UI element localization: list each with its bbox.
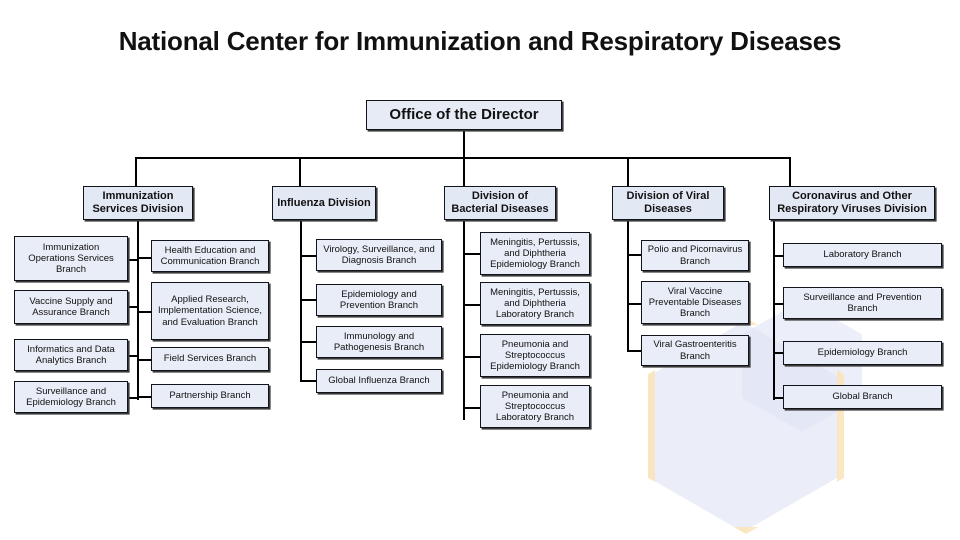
branch-label: Immunology and Pathogenesis Branch (321, 331, 437, 353)
connector-spine-division-3 (463, 220, 465, 420)
branch-label: Virology, Surveillance, and Diagnosis Br… (321, 244, 437, 266)
connector-stub-5-2 (773, 303, 783, 305)
branch-label: Partnership Branch (169, 390, 250, 401)
connector-drop-division-3 (463, 157, 465, 186)
branch-label: Pneumonia and Streptococcus Epidemiology… (485, 339, 585, 373)
node-label: Office of the Director (389, 106, 538, 124)
division-title-line1: Division of Viral (627, 190, 710, 202)
node-partnership-branch[interactable]: Partnership Branch (151, 384, 269, 408)
connector-spine-division-1 (137, 220, 139, 400)
division-title-line1: Division of (472, 190, 528, 202)
connector-stub-2-4 (300, 380, 316, 382)
branch-label: Surveillance and Prevention Branch (788, 292, 937, 314)
node-division-of-bacterial-diseases[interactable]: Division of Bacterial Diseases (444, 186, 556, 220)
branch-label: Epidemiology Branch (818, 347, 908, 358)
connector-stub-2-3 (300, 341, 316, 343)
division-title-line2: Diseases (644, 203, 692, 215)
branch-label: Polio and Picornavirus Branch (646, 244, 744, 266)
division-title: Immunization Services Division (92, 190, 183, 216)
division-title: Division of Bacterial Diseases (451, 190, 548, 216)
node-epidemiology-and-prevention-branch[interactable]: Epidemiology and Prevention Branch (316, 284, 442, 316)
branch-label: Epidemiology and Prevention Branch (321, 289, 437, 311)
connector-drop-division-2 (299, 157, 301, 186)
division-title-line1: Immunization (103, 190, 174, 202)
node-viral-vaccine-preventable-diseases-branch[interactable]: Viral Vaccine Preventable Diseases Branc… (641, 281, 749, 324)
branch-label: Field Services Branch (164, 353, 256, 364)
connector-stub-1-left-3 (128, 355, 139, 357)
node-vaccine-supply-and-assurance-branch[interactable]: Vaccine Supply and Assurance Branch (14, 290, 128, 324)
node-global-branch[interactable]: Global Branch (783, 385, 942, 409)
branch-label: Meningitis, Pertussis, and Diphtheria Ep… (485, 237, 585, 271)
connector-spine-division-5 (773, 220, 775, 400)
division-title-line2: Services Division (92, 203, 183, 215)
node-epidemiology-branch[interactable]: Epidemiology Branch (783, 341, 942, 365)
node-coronavirus-and-other-respiratory-viruses-division[interactable]: Coronavirus and Other Respiratory Viruse… (769, 186, 935, 220)
connector-stub-3-1 (463, 253, 480, 255)
connector-stub-3-2 (463, 304, 480, 306)
node-pneumonia-and-streptococcus-epidemiology-branch[interactable]: Pneumonia and Streptococcus Epidemiology… (480, 334, 590, 377)
node-division-of-viral-diseases[interactable]: Division of Viral Diseases (612, 186, 724, 220)
branch-label: Surveillance and Epidemiology Branch (19, 386, 123, 408)
node-surveillance-and-epidemiology-branch[interactable]: Surveillance and Epidemiology Branch (14, 381, 128, 413)
connector-stub-3-4 (463, 407, 480, 409)
connector-spine-division-4 (627, 220, 629, 352)
connector-stub-5-3 (773, 352, 783, 354)
connector-stub-1-right-4 (137, 396, 151, 398)
connector-stub-2-1 (300, 255, 316, 257)
node-laboratory-branch[interactable]: Laboratory Branch (783, 243, 942, 267)
node-immunization-operations-services-branch[interactable]: Immunization Operations Services Branch (14, 236, 128, 281)
node-immunology-and-pathogenesis-branch[interactable]: Immunology and Pathogenesis Branch (316, 326, 442, 358)
node-meningitis-pertussis-and-diphtheria-epidemiology-branch[interactable]: Meningitis, Pertussis, and Diphtheria Ep… (480, 232, 590, 275)
node-informatics-and-data-analytics-branch[interactable]: Informatics and Data Analytics Branch (14, 339, 128, 371)
branch-label: Pneumonia and Streptococcus Laboratory B… (485, 390, 585, 424)
node-surveillance-and-prevention-branch[interactable]: Surveillance and Prevention Branch (783, 287, 942, 319)
branch-label: Meningitis, Pertussis, and Diphtheria La… (485, 287, 585, 321)
division-title-line2: Bacterial Diseases (451, 203, 548, 215)
node-immunization-services-division[interactable]: Immunization Services Division (83, 186, 193, 220)
branch-label: Health Education and Communication Branc… (156, 245, 264, 267)
division-title-line2: Respiratory Viruses Division (777, 203, 927, 215)
node-pneumonia-and-streptococcus-laboratory-branch[interactable]: Pneumonia and Streptococcus Laboratory B… (480, 385, 590, 428)
connector-drop-division-4 (627, 157, 629, 186)
connector-stub-5-1 (773, 255, 783, 257)
page-title: National Center for Immunization and Res… (0, 26, 960, 57)
branch-label: Global Branch (832, 391, 892, 402)
connector-stub-4-2 (627, 303, 641, 305)
connector-stub-5-4 (773, 397, 783, 399)
connector-stub-2-2 (300, 299, 316, 301)
division-title-line1: Coronavirus and Other (792, 190, 912, 202)
node-meningitis-pertussis-and-diphtheria-laboratory-branch[interactable]: Meningitis, Pertussis, and Diphtheria La… (480, 282, 590, 325)
node-global-influenza-branch[interactable]: Global Influenza Branch (316, 369, 442, 393)
hexagon-watermark-inner-icon (742, 300, 862, 432)
node-polio-and-picornavirus-branch[interactable]: Polio and Picornavirus Branch (641, 240, 749, 271)
division-title: Influenza Division (277, 197, 371, 210)
node-influenza-division[interactable]: Influenza Division (272, 186, 376, 220)
connector-root-stem (463, 130, 465, 158)
connector-stub-1-right-3 (137, 359, 151, 361)
connector-drop-division-1 (135, 157, 137, 186)
connector-stub-1-left-2 (128, 306, 139, 308)
connector-drop-division-5 (789, 157, 791, 186)
connector-stub-4-3 (627, 350, 641, 352)
connector-stub-1-right-1 (137, 257, 151, 259)
org-chart-canvas: National Center for Immunization and Res… (0, 0, 960, 540)
connector-spine-division-2 (300, 220, 302, 382)
branch-label: Viral Gastroenteritis Branch (646, 339, 744, 361)
connector-stub-3-3 (463, 356, 480, 358)
branch-label: Global Influenza Branch (328, 375, 429, 386)
branch-label: Applied Research, Implementation Science… (156, 294, 264, 328)
branch-label: Laboratory Branch (823, 249, 901, 260)
branch-label: Immunization Operations Services Branch (19, 242, 123, 276)
node-office-of-the-director[interactable]: Office of the Director (366, 100, 562, 130)
node-applied-research-implementation-science-and-evaluation-branch[interactable]: Applied Research, Implementation Science… (151, 282, 269, 340)
connector-stub-4-1 (627, 254, 641, 256)
branch-label: Viral Vaccine Preventable Diseases Branc… (646, 286, 744, 320)
node-viral-gastroenteritis-branch[interactable]: Viral Gastroenteritis Branch (641, 335, 749, 366)
connector-stub-1-right-2 (137, 311, 151, 313)
division-title-line1: Influenza Division (277, 197, 371, 209)
branch-label: Vaccine Supply and Assurance Branch (19, 296, 123, 318)
connector-stub-1-left-1 (128, 259, 139, 261)
node-virology-surveillance-and-diagnosis-branch[interactable]: Virology, Surveillance, and Diagnosis Br… (316, 239, 442, 271)
node-health-education-and-communication-branch[interactable]: Health Education and Communication Branc… (151, 240, 269, 272)
node-field-services-branch[interactable]: Field Services Branch (151, 347, 269, 371)
division-title: Coronavirus and Other Respiratory Viruse… (777, 190, 927, 216)
division-title: Division of Viral Diseases (627, 190, 710, 216)
branch-label: Informatics and Data Analytics Branch (19, 344, 123, 366)
